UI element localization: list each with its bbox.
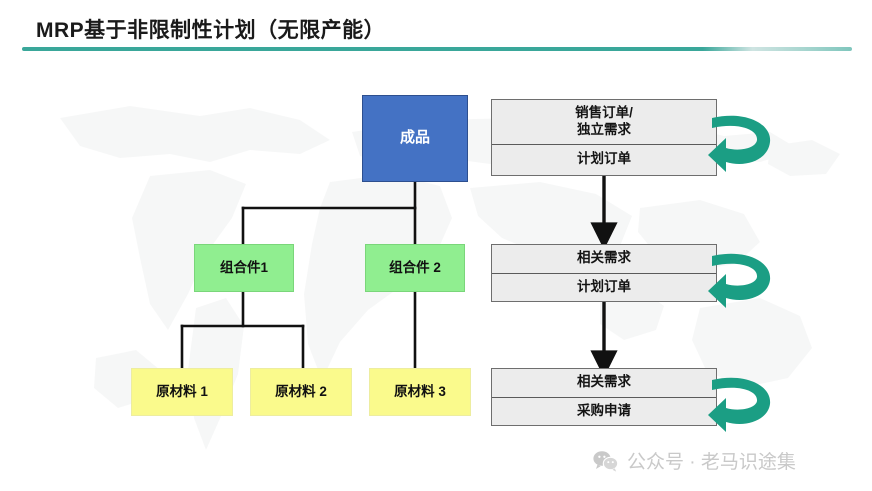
mrp-stage-3-loop-arrow-icon	[706, 364, 780, 434]
mrp-stage-3-supply-row[interactable]: 采购申请	[492, 397, 716, 426]
mrp-stage-3-card[interactable]: 相关需求 采购申请	[491, 368, 717, 426]
footer-watermark: 公众号 · 老马识途集	[593, 447, 796, 474]
bom-node-label: 组合件1	[220, 260, 268, 277]
mrp-stage-1-demand-row[interactable]: 销售订单/ 独立需求	[492, 100, 716, 144]
header-divider-rule	[22, 47, 852, 51]
bom-node-raw-material-3[interactable]: 原材料 3	[369, 368, 471, 416]
bom-node-finished-good[interactable]: 成品	[362, 95, 468, 182]
mrp-stage-3-demand-label: 相关需求	[577, 374, 631, 391]
mrp-stage-3-supply-label: 采购申请	[577, 403, 631, 420]
mrp-stage-1-demand-label: 销售订单/ 独立需求	[575, 105, 633, 139]
mrp-stage-1-loop-arrow-icon	[706, 96, 780, 178]
bom-node-raw-material-2[interactable]: 原材料 2	[250, 368, 352, 416]
bom-node-raw-material-1[interactable]: 原材料 1	[131, 368, 233, 416]
mrp-diagram: 成品 组合件1 组合件 2 原材料 1 原材料 2 原材料 3 销售订单/ 独立…	[0, 58, 872, 491]
mrp-stage-2-loop-arrow-icon	[706, 240, 780, 310]
page-title: MRP基于非限制性计划（无限产能）	[36, 14, 385, 44]
mrp-stage-1-supply-row[interactable]: 计划订单	[492, 144, 716, 175]
mrp-stage-1-supply-label: 计划订单	[577, 151, 631, 168]
mrp-stage-2-demand-row[interactable]: 相关需求	[492, 245, 716, 273]
mrp-stage-3-demand-row[interactable]: 相关需求	[492, 369, 716, 397]
footer-watermark-text: 公众号 · 老马识途集	[627, 447, 796, 474]
mrp-stage-2-supply-row[interactable]: 计划订单	[492, 273, 716, 302]
mrp-stage-1-card[interactable]: 销售订单/ 独立需求 计划订单	[491, 99, 717, 176]
bom-node-component-1[interactable]: 组合件1	[194, 244, 294, 292]
bom-node-component-2[interactable]: 组合件 2	[365, 244, 465, 292]
wechat-icon	[593, 450, 618, 472]
bom-node-label: 原材料 1	[156, 384, 208, 401]
bom-node-label: 组合件 2	[389, 260, 441, 277]
mrp-stage-2-supply-label: 计划订单	[577, 279, 631, 296]
mrp-stage-2-demand-label: 相关需求	[577, 250, 631, 267]
slide-canvas: MRP基于非限制性计划（无限产能）	[0, 0, 872, 491]
bom-node-label: 成品	[400, 129, 430, 148]
bom-node-label: 原材料 3	[394, 384, 446, 401]
mrp-stage-2-card[interactable]: 相关需求 计划订单	[491, 244, 717, 302]
bom-node-label: 原材料 2	[275, 384, 327, 401]
